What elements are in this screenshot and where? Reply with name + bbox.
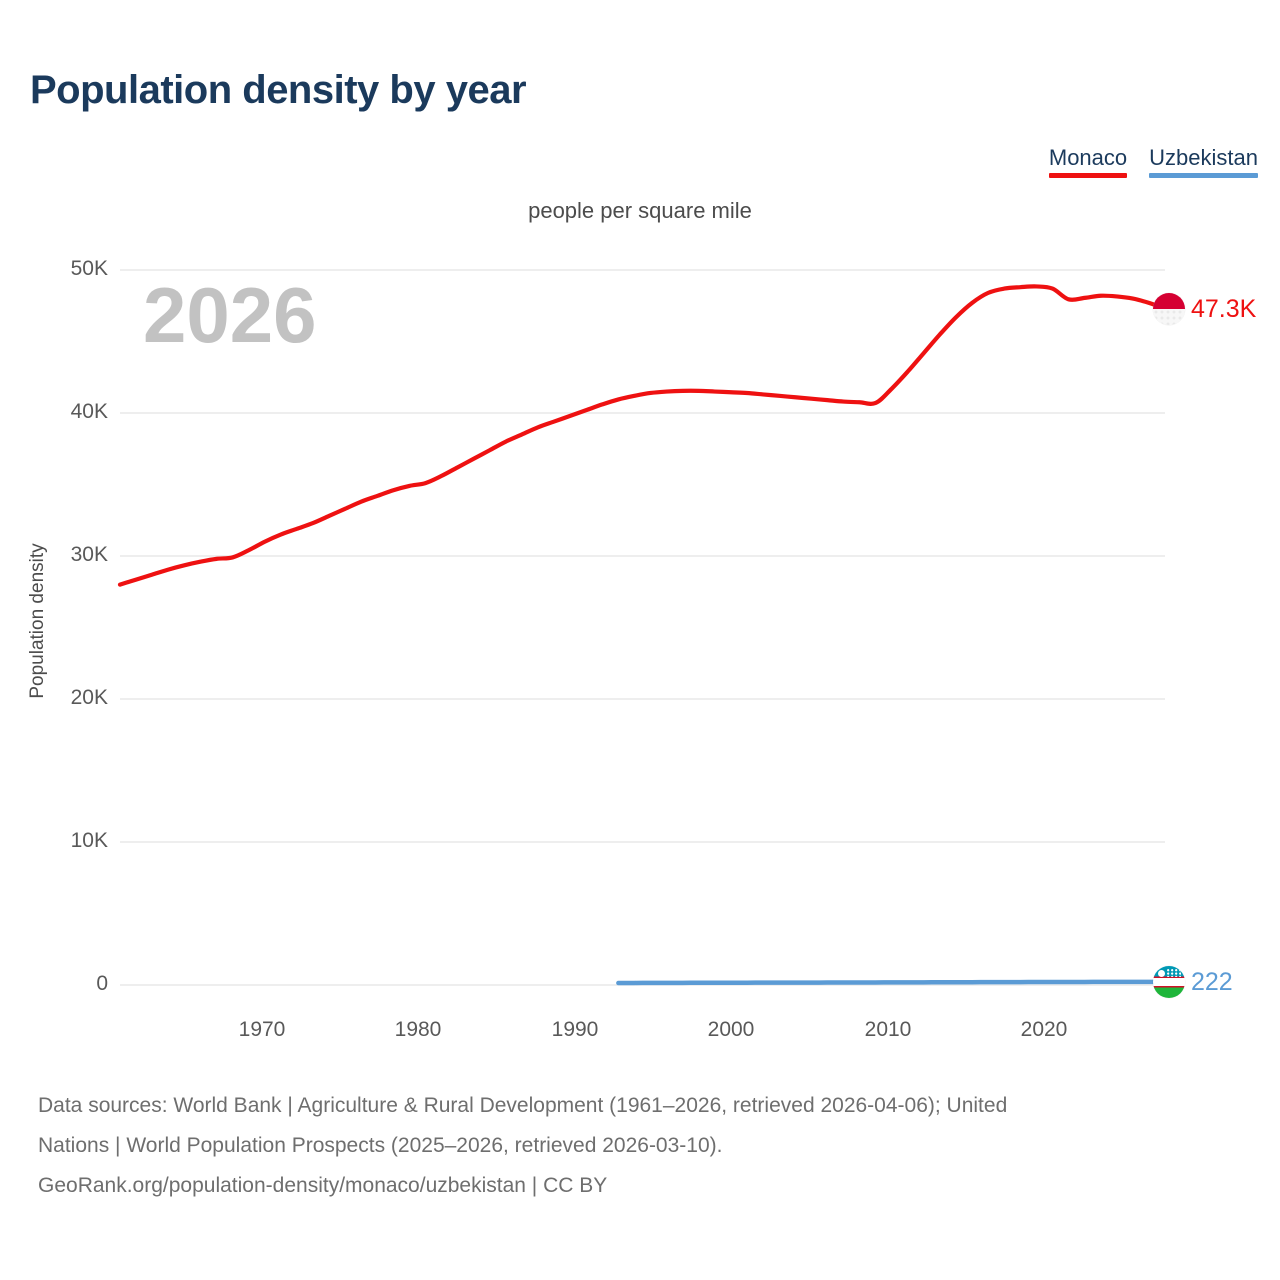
x-tick-1990: 1990 xyxy=(515,1018,635,1042)
chart-subtitle-text: people per square mile xyxy=(528,198,752,223)
year-watermark: 2026 xyxy=(143,275,317,355)
x-tick-1980: 1980 xyxy=(358,1018,478,1042)
end-value-monaco: 47.3K xyxy=(1191,296,1256,322)
stars-icon xyxy=(1167,969,1181,977)
monaco-flag-icon xyxy=(1153,293,1185,325)
legend-swatch-uzbekistan xyxy=(1149,173,1258,178)
x-tick-2000: 2000 xyxy=(671,1018,791,1042)
x-tick-2010: 2010 xyxy=(828,1018,948,1042)
legend-label-uzbekistan: Uzbekistan xyxy=(1149,145,1258,171)
legend-item-monaco[interactable]: Monaco xyxy=(1049,145,1127,178)
x-tick-1970: 1970 xyxy=(202,1018,322,1042)
y-axis-title: Population density xyxy=(27,471,49,771)
y-tick-10k: 10K xyxy=(18,829,108,853)
y-tick-20k: 20K xyxy=(18,686,108,710)
series-line-uzbekistan xyxy=(618,982,1165,983)
end-marker-monaco[interactable]: 47.3K xyxy=(1153,293,1256,325)
chart-page: Population density by year Monaco Uzbeki… xyxy=(0,0,1280,1280)
chart-subtitle: people per square mile xyxy=(0,198,1280,224)
end-value-uzbekistan: 222 xyxy=(1191,969,1233,995)
uzbekistan-flag-icon xyxy=(1153,966,1185,998)
y-tick-30k: 30K xyxy=(18,543,108,567)
gridlines xyxy=(120,270,1165,985)
x-tick-2020: 2020 xyxy=(984,1018,1104,1042)
y-tick-40k: 40K xyxy=(18,400,108,424)
footer-sources: Data sources: World Bank | Agriculture &… xyxy=(38,1086,1248,1206)
crescent-icon xyxy=(1158,970,1165,977)
chart-legend: Monaco Uzbekistan xyxy=(1049,145,1258,178)
y-tick-50k: 50K xyxy=(18,257,108,281)
footer-line-1: Data sources: World Bank | Agriculture &… xyxy=(38,1086,1248,1126)
page-title: Population density by year xyxy=(30,68,526,113)
footer-line-2: Nations | World Population Prospects (20… xyxy=(38,1126,1248,1166)
legend-item-uzbekistan[interactable]: Uzbekistan xyxy=(1149,145,1258,178)
footer-line-3: GeoRank.org/population-density/monaco/uz… xyxy=(38,1166,1248,1206)
legend-swatch-monaco xyxy=(1049,173,1127,178)
y-tick-0: 0 xyxy=(18,972,108,996)
end-marker-uzbekistan[interactable]: 222 xyxy=(1153,966,1233,998)
legend-label-monaco: Monaco xyxy=(1049,145,1127,171)
